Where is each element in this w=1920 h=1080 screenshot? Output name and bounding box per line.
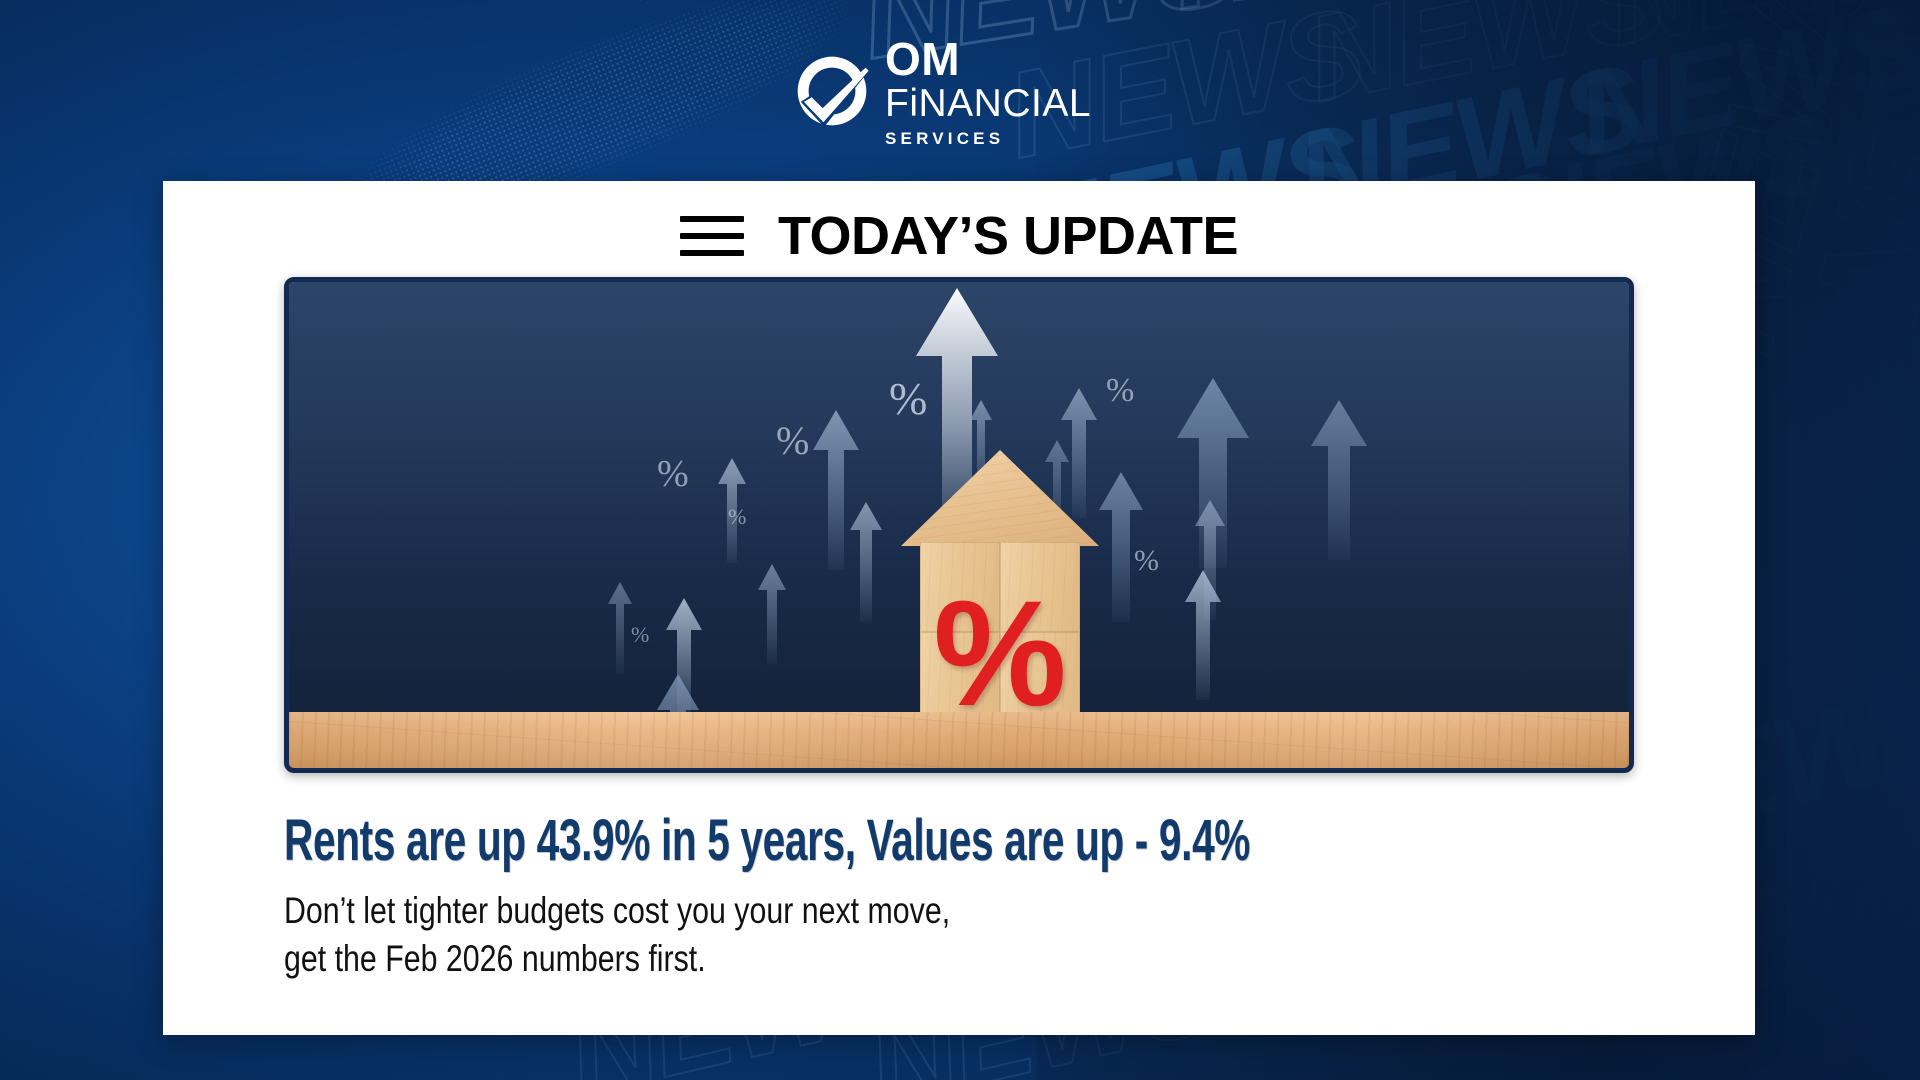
hamburger-menu-icon[interactable]	[680, 216, 744, 256]
up-arrow-icon	[607, 582, 633, 674]
update-card: TODAY’S UPDATE	[163, 181, 1755, 1035]
card-copy: Rents are up 43.9% in 5 years, Values ar…	[163, 773, 1755, 984]
brand-line-2: FiNANCIAL	[885, 84, 1091, 123]
percent-mark: %	[728, 504, 746, 530]
percent-mark: %	[776, 417, 809, 464]
percent-mark: %	[889, 372, 927, 425]
wooden-block	[920, 542, 1000, 632]
house-body	[920, 542, 1080, 722]
subtitle-line-2: get the Feb 2026 numbers first.	[284, 935, 1635, 983]
hero-image-container: % % % % % % % %	[163, 277, 1755, 773]
brand-line-1: OM	[885, 36, 1091, 82]
brand-line-3: SERVICES	[885, 130, 1091, 147]
brand-logo[interactable]: OM FiNANCIAL SERVICES	[793, 34, 1091, 147]
wooden-house-blocks: %	[901, 450, 1099, 722]
circle-swoosh-check-logo-icon	[793, 52, 871, 130]
up-arrow-icon	[849, 502, 883, 622]
headline: Rents are up 43.9% in 5 years, Values ar…	[284, 811, 1635, 871]
up-arrow-icon	[1309, 400, 1369, 560]
card-header: TODAY’S UPDATE	[163, 181, 1755, 277]
page-title: TODAY’S UPDATE	[778, 205, 1238, 267]
up-arrow-icon	[757, 564, 787, 664]
wooden-block	[1000, 632, 1080, 722]
percent-mark: %	[1134, 544, 1159, 578]
subtitle-line-1: Don’t let tighter budgets cost you your …	[284, 887, 1635, 935]
percent-mark: %	[631, 622, 649, 648]
wooden-block	[920, 632, 1000, 722]
wooden-floor	[289, 712, 1629, 768]
subtitle: Don’t let tighter budgets cost you your …	[284, 887, 1635, 983]
percent-mark: %	[657, 452, 689, 496]
brand-wordmark: OM FiNANCIAL SERVICES	[885, 34, 1091, 147]
wooden-block	[1000, 542, 1080, 632]
hero-image: % % % % % % % %	[284, 277, 1634, 773]
percent-mark: %	[1106, 372, 1134, 410]
up-arrow-icon	[1183, 570, 1223, 700]
house-roof	[901, 450, 1099, 546]
